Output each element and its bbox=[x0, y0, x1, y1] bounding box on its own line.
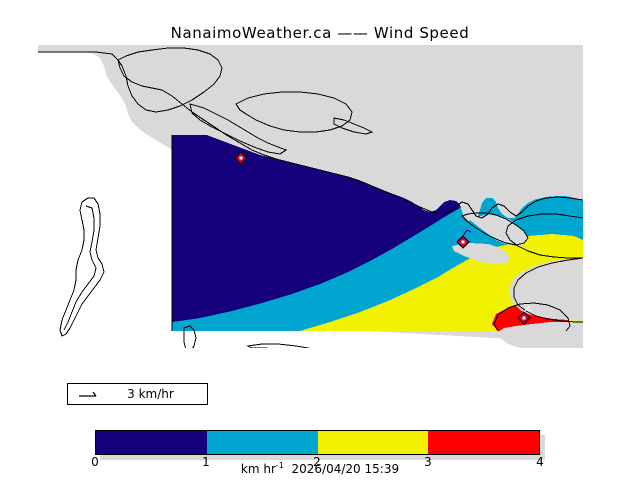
colorbar-segment-1-2 bbox=[207, 431, 318, 454]
colorbar-segment-3-4 bbox=[428, 431, 539, 454]
colorbar-track bbox=[95, 430, 540, 455]
colorbar-timestamp: 2026/04/20 15:39 bbox=[292, 462, 400, 476]
screenshot-root: NanaimoWeather.ca —— Wind Speed bbox=[0, 0, 640, 480]
wind-barb-legend-label: 3 km/hr bbox=[68, 387, 209, 401]
wind-barb-legend: 3 km/hr bbox=[67, 383, 208, 405]
colorbar-unit: km hr bbox=[241, 462, 276, 476]
colorbar bbox=[95, 430, 540, 455]
colorbar-caption: km hr-1 2026/04/20 15:39 bbox=[0, 461, 640, 476]
colorbar-segment-0-1 bbox=[96, 431, 207, 454]
colorbar-segment-2-3 bbox=[318, 431, 429, 454]
weather-map bbox=[0, 0, 640, 480]
colorbar-unit-exponent: -1 bbox=[276, 461, 284, 470]
